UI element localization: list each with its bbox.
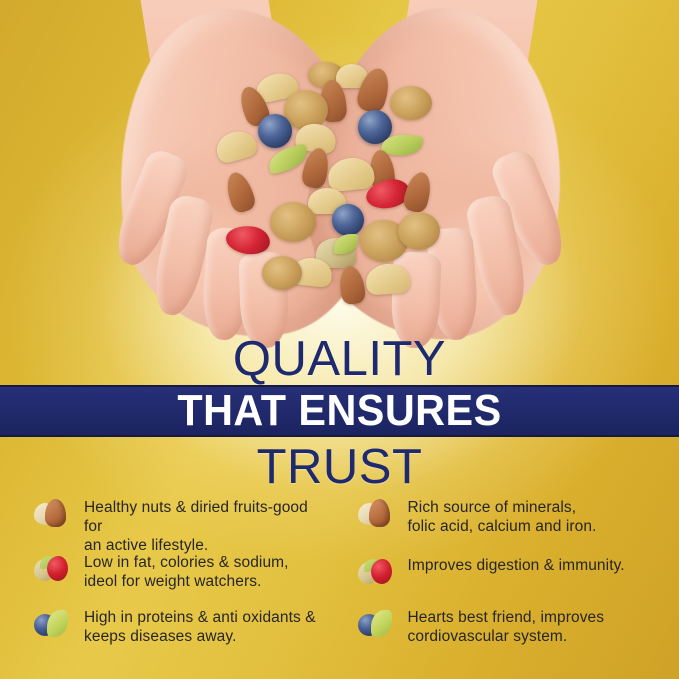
almond [337,265,366,306]
cashew [213,127,259,165]
benefit-text: Improves digestion & immunity. [408,555,625,575]
almond [222,169,257,214]
benefit-item: Low in fat, colories & sodium, ideol for… [34,552,330,591]
walnut [398,212,440,250]
walnut [270,202,316,242]
blueberry [332,204,364,236]
nut-and-dried-fruit-pile [200,62,480,312]
benefit-item: Hearts best friend, improves cordiovascu… [358,607,670,646]
benefit-text: High in proteins & anti oxidants & keeps… [84,607,316,646]
headline-line-that-ensures: THAT ENSURES [177,388,501,434]
hero-hands-with-nuts-image [0,0,679,345]
walnut [262,256,302,290]
headline-block: QUALITY THAT ENSURES TRUST [0,332,679,492]
benefits-section: Healthy nuts & diried fruits-good for an… [0,497,679,657]
benefit-text: Low in fat, colories & sodium, ideol for… [84,552,289,591]
benefits-column-left: Healthy nuts & diried fruits-good for an… [0,497,340,657]
cashew [326,156,375,193]
headline-line-quality: QUALITY [0,332,679,386]
almond-cashew-icon [34,498,70,530]
walnut [390,86,432,120]
benefits-column-right: Rich source of minerals, folic acid, cal… [340,497,679,657]
pistachio-berry-icon [34,553,70,585]
cashew [365,263,411,296]
almond [402,170,435,215]
benefit-item: Healthy nuts & diried fruits-good for an… [34,497,330,555]
benefit-item: Improves digestion & immunity. [358,555,670,588]
dried-cranberry [224,223,271,257]
blueberry [258,114,292,148]
almond-cashew-icon [358,498,394,530]
pistachio-berry-icon [358,556,394,588]
benefit-text: Hearts best friend, improves cordiovascu… [408,607,605,646]
benefit-text: Rich source of minerals, folic acid, cal… [408,497,597,536]
product-benefits-poster: QUALITY THAT ENSURES TRUST Healthy nuts … [0,0,679,679]
headline-line-trust: TRUST [0,440,679,494]
headline-navy-band: THAT ENSURES [0,385,679,437]
benefit-text: Healthy nuts & diried fruits-good for an… [84,497,330,555]
blueberry-leaf-icon [34,608,70,640]
benefit-item: Rich source of minerals, folic acid, cal… [358,497,670,536]
blueberry-leaf-icon [358,608,394,640]
benefit-item: High in proteins & anti oxidants & keeps… [34,607,330,646]
